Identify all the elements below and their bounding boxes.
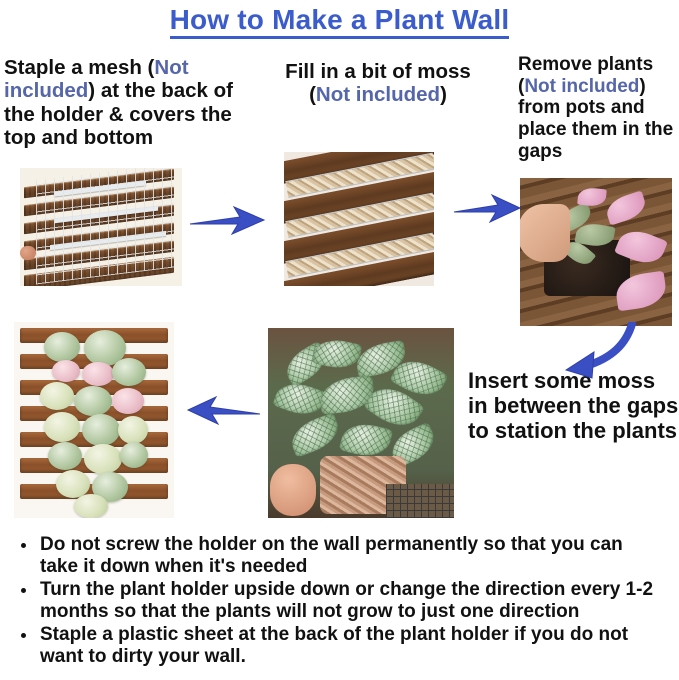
arrow-right-step1-to-step2 xyxy=(188,204,266,238)
finger xyxy=(20,246,36,260)
step-2-caption: Fill in a bit of moss (Not included) xyxy=(268,60,488,107)
succulent-cluster xyxy=(38,330,150,512)
photo-hand-placing-plant xyxy=(520,178,672,326)
wire-mesh xyxy=(36,168,174,284)
photo-finished-plant-wall xyxy=(14,322,174,518)
page-title: How to Make a Plant Wall xyxy=(0,4,679,36)
thumb xyxy=(270,464,316,516)
step-2-not-included: Not included xyxy=(316,83,440,106)
hand xyxy=(520,204,570,262)
step-2-part-c: ) xyxy=(440,83,447,106)
photo-plants-closeup xyxy=(268,328,454,518)
photo-moss-in-slats xyxy=(284,152,434,286)
photo-mesh-on-slats xyxy=(20,168,182,286)
arrow-right-step2-to-step3 xyxy=(452,192,522,226)
step-1-part-a: Staple a mesh ( xyxy=(4,56,154,79)
step-3-not-included: Not included xyxy=(524,76,639,97)
step-3-caption: Remove plants (Not included) from pots a… xyxy=(518,54,678,162)
step-1-caption: Staple a mesh (Not included) at the back… xyxy=(4,56,262,149)
page-title-text: How to Make a Plant Wall xyxy=(170,4,510,39)
tip-item: Do not screw the holder on the wall perm… xyxy=(38,534,666,578)
tip-item: Turn the plant holder upside down or cha… xyxy=(38,579,666,623)
mesh-crate xyxy=(386,484,454,518)
arrow-left-step4-to-final xyxy=(186,394,262,428)
tips-list: Do not screw the holder on the wall perm… xyxy=(14,534,666,669)
tip-item: Staple a plastic sheet at the back of th… xyxy=(38,624,666,668)
arrow-curved-step3-to-step4 xyxy=(546,322,636,384)
